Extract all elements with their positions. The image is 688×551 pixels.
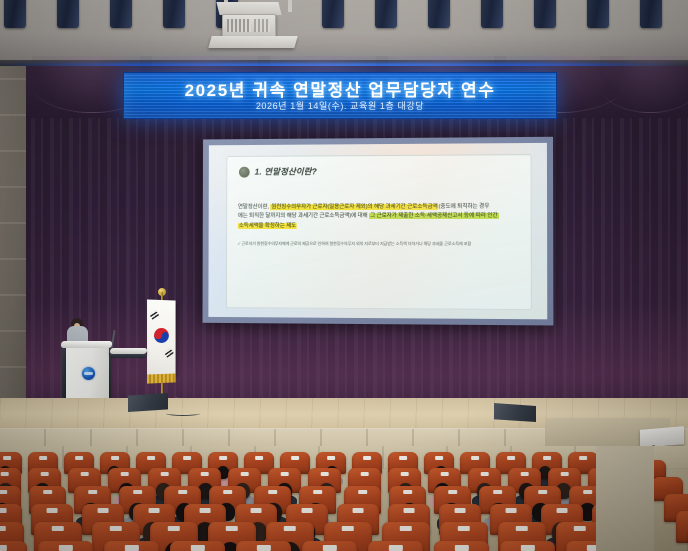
ceiling-baffle: [110, 0, 132, 28]
seat-number-tag: [124, 545, 138, 551]
audio-cable: [166, 411, 200, 416]
auditorium-seat: [38, 541, 93, 551]
projector-vent: [227, 19, 251, 32]
seat-number-tag: [291, 456, 299, 460]
seat-number-tag: [47, 508, 58, 513]
seat-number-tag: [363, 456, 371, 460]
seat-number-tag: [358, 490, 368, 494]
seat-number-tag: [455, 508, 466, 513]
slide-text-run: 소득세액을 확정하는 제도: [238, 223, 297, 229]
presentation-slide: 1. 연말정산이란? 연말정산이란, 원천징수의무자가 근로자(일용근로자 제외…: [226, 154, 532, 310]
slide-text-run: 에는 퇴직한 달까지의 해당 과세기간 근로소득금액)에 대해: [238, 213, 369, 219]
seat-number-tag: [183, 456, 191, 460]
seat-number-tag: [52, 526, 64, 531]
ceiling-baffle: [4, 0, 26, 28]
seat-number-tag: [458, 526, 470, 531]
seat-number-tag: [302, 508, 313, 513]
flag-taeguk-symbol: [154, 328, 169, 343]
ceiling-projector-icon: [222, 14, 276, 38]
seat-number-tag: [520, 472, 529, 476]
left-stone-wall: [0, 66, 26, 438]
seat-number-tag: [471, 456, 479, 460]
seat-number-tag: [360, 472, 369, 476]
seat-number-tag: [579, 456, 587, 460]
seat-number-tag: [506, 508, 517, 513]
seat-number-tag: [520, 545, 534, 551]
seat-number-tag: [0, 472, 9, 476]
seat-number-tag: [0, 490, 7, 494]
seat-number-tag: [399, 456, 407, 460]
stage-monitor-speaker: [494, 403, 536, 422]
auditorium-photo-scene: 2025년 귀속 연말정산 업무담당자 연수 2026년 1월 14일(수). …: [0, 0, 688, 551]
seat-number-tag: [98, 508, 109, 513]
ceiling: [0, 0, 688, 62]
ceiling-baffle: [428, 0, 450, 28]
seat-number-tag: [219, 456, 227, 460]
seat-number-tag: [388, 545, 402, 551]
seat-number-tag: [0, 508, 6, 513]
seat-number-tag: [448, 490, 458, 494]
seat-number-tag: [280, 472, 289, 476]
slide-text-run: 원천징수의무자가 근로자(일용근로자 제외)의 해당 과세기간 근로소득금액: [270, 204, 438, 210]
slide-body-line: 소득세액을 확정하는 제도: [238, 222, 520, 232]
seat-number-tag: [313, 490, 323, 494]
banner-subtitle: 2026년 1월 14일(수). 교육원 1층 대강당: [124, 99, 556, 112]
seat-number-tag: [223, 490, 233, 494]
seat-number-tag: [404, 508, 415, 513]
ceiling-baffle: [534, 0, 556, 28]
ceiling-baffle: [57, 0, 79, 28]
institution-globe-emblem-icon: [82, 367, 95, 380]
ceiling-baffle: [163, 0, 185, 28]
ceiling-baffle: [587, 0, 609, 28]
seat-number-tag: [327, 456, 335, 460]
seat-number-tag: [516, 526, 528, 531]
ceiling-baffle: [640, 0, 662, 28]
seat-number-tag: [0, 526, 6, 531]
av-equipment-table: [640, 426, 684, 448]
seat-number-tag: [403, 490, 413, 494]
seat-number-tag: [538, 490, 548, 494]
podium-top-surface: [61, 341, 113, 348]
seat-number-tag: [120, 472, 129, 476]
seat-number-tag: [88, 490, 98, 494]
ceiling-baffle: [375, 0, 397, 28]
seat-number-tag: [268, 490, 278, 494]
flag-trigram: [149, 310, 159, 319]
seat-number-tag: [39, 456, 47, 460]
projection-screen: 1. 연말정산이란? 연말정산이란, 원천징수의무자가 근로자(일용근로자 제외…: [203, 137, 554, 326]
seat-number-tag: [400, 472, 409, 476]
side-aisle-floor: [596, 446, 654, 551]
seat-number-tag: [43, 490, 53, 494]
south-korea-flag-icon: [147, 299, 176, 376]
seat-number-tag: [149, 508, 160, 513]
seat-number-tag: [583, 490, 593, 494]
auditorium-seat: [0, 541, 27, 551]
seat-number-tag: [0, 545, 7, 551]
seat-number-tag: [560, 472, 569, 476]
auditorium-seat: [368, 541, 423, 551]
seat-number-tag: [111, 456, 119, 460]
projector-bracket-plate: [208, 36, 297, 48]
auditorium-seat: [104, 541, 159, 551]
seat-number-tag: [255, 456, 263, 460]
auditorium-seat: [302, 541, 357, 551]
auditorium-seat: [500, 541, 555, 551]
slide-body-line: 에는 퇴직한 달까지의 해당 과세기간 근로소득금액)에 대해 그 근로자가 제…: [238, 212, 520, 222]
seat-number-tag: [320, 472, 329, 476]
seat-number-tag: [251, 508, 262, 513]
projector-mount-rod: [288, 0, 292, 12]
slide-body-text: 연말정산이란, 원천징수의무자가 근로자(일용근로자 제외)의 해당 과세기간 …: [238, 203, 520, 232]
seat-number-tag: [480, 472, 489, 476]
auditorium-seat: [236, 541, 291, 551]
seat-number-tag: [574, 526, 586, 531]
auditorium-seat: [676, 511, 688, 543]
projector-vent: [254, 19, 270, 32]
flag-gold-fringe: [147, 374, 176, 384]
seat-number-tag: [256, 545, 270, 551]
seat-number-tag: [147, 456, 155, 460]
seat-number-tag: [342, 526, 354, 531]
seat-number-tag: [133, 490, 143, 494]
seat-number-tag: [322, 545, 336, 551]
seat-number-tag: [435, 456, 443, 460]
seat-number-tag: [284, 526, 296, 531]
seat-number-tag: [543, 456, 551, 460]
slide-body-line: 연말정산이란, 원천징수의무자가 근로자(일용근로자 제외)의 해당 과세기간 …: [238, 203, 520, 213]
seat-number-tag: [400, 526, 412, 531]
seat-number-tag: [353, 508, 364, 513]
seat-number-tag: [160, 472, 169, 476]
seat-number-tag: [58, 545, 72, 551]
seat-number-tag: [80, 472, 89, 476]
seat-number-tag: [200, 472, 209, 476]
seat-number-tag: [3, 456, 11, 460]
stage-monitor-speaker: [128, 393, 168, 412]
seat-number-tag: [168, 526, 180, 531]
seat-number-tag: [557, 508, 568, 513]
seat-number-tag: [40, 472, 49, 476]
seat-number-tag: [493, 490, 503, 494]
slide-text-run: (중도에 퇴직하는 경우: [439, 204, 490, 210]
seat-number-tag: [507, 456, 515, 460]
seat-number-tag: [75, 456, 83, 460]
seat-number-tag: [200, 508, 211, 513]
audience-seating-area: [0, 446, 688, 551]
ceiling-baffle: [481, 0, 503, 28]
seat-number-tag: [190, 545, 204, 551]
seat-number-tag: [454, 545, 468, 551]
podium-shelf-underside: [110, 354, 147, 358]
seat-number-tag: [110, 526, 122, 531]
curtain-swag: [600, 56, 688, 113]
seat-number-tag: [240, 472, 249, 476]
slide-title: 1. 연말정산이란?: [255, 165, 317, 177]
projection-screen-surface: 1. 연말정산이란? 연말정산이란, 원천징수의무자가 근로자(일용근로자 제외…: [208, 143, 547, 319]
ceiling-baffle: [322, 0, 344, 28]
seat-number-tag: [226, 526, 238, 531]
slide-header: 1. 연말정산이란?: [239, 165, 317, 177]
flag-trigram: [164, 348, 174, 357]
slide-text-run: 그 근로자가 제출한 소득·세액공제신고서 등에 따라 인간: [369, 213, 499, 219]
banner-title: 2025년 귀속 연말정산 업무담당자 연수: [124, 76, 556, 101]
seal-bullet-icon: [239, 166, 250, 177]
slide-text-run: 연말정산이란,: [238, 204, 270, 210]
auditorium-seat: [434, 541, 489, 551]
seat-number-tag: [440, 472, 449, 476]
slide-footnote: ✓ 근로자가 원천징수의무자에게 근로의 제공으로 인하여 원천징수의무자 외의…: [238, 241, 524, 247]
seat-number-tag: [178, 490, 188, 494]
led-banner: 2025년 귀속 연말정산 업무담당자 연수 2026년 1월 14일(수). …: [123, 72, 557, 119]
auditorium-seat: [170, 541, 225, 551]
